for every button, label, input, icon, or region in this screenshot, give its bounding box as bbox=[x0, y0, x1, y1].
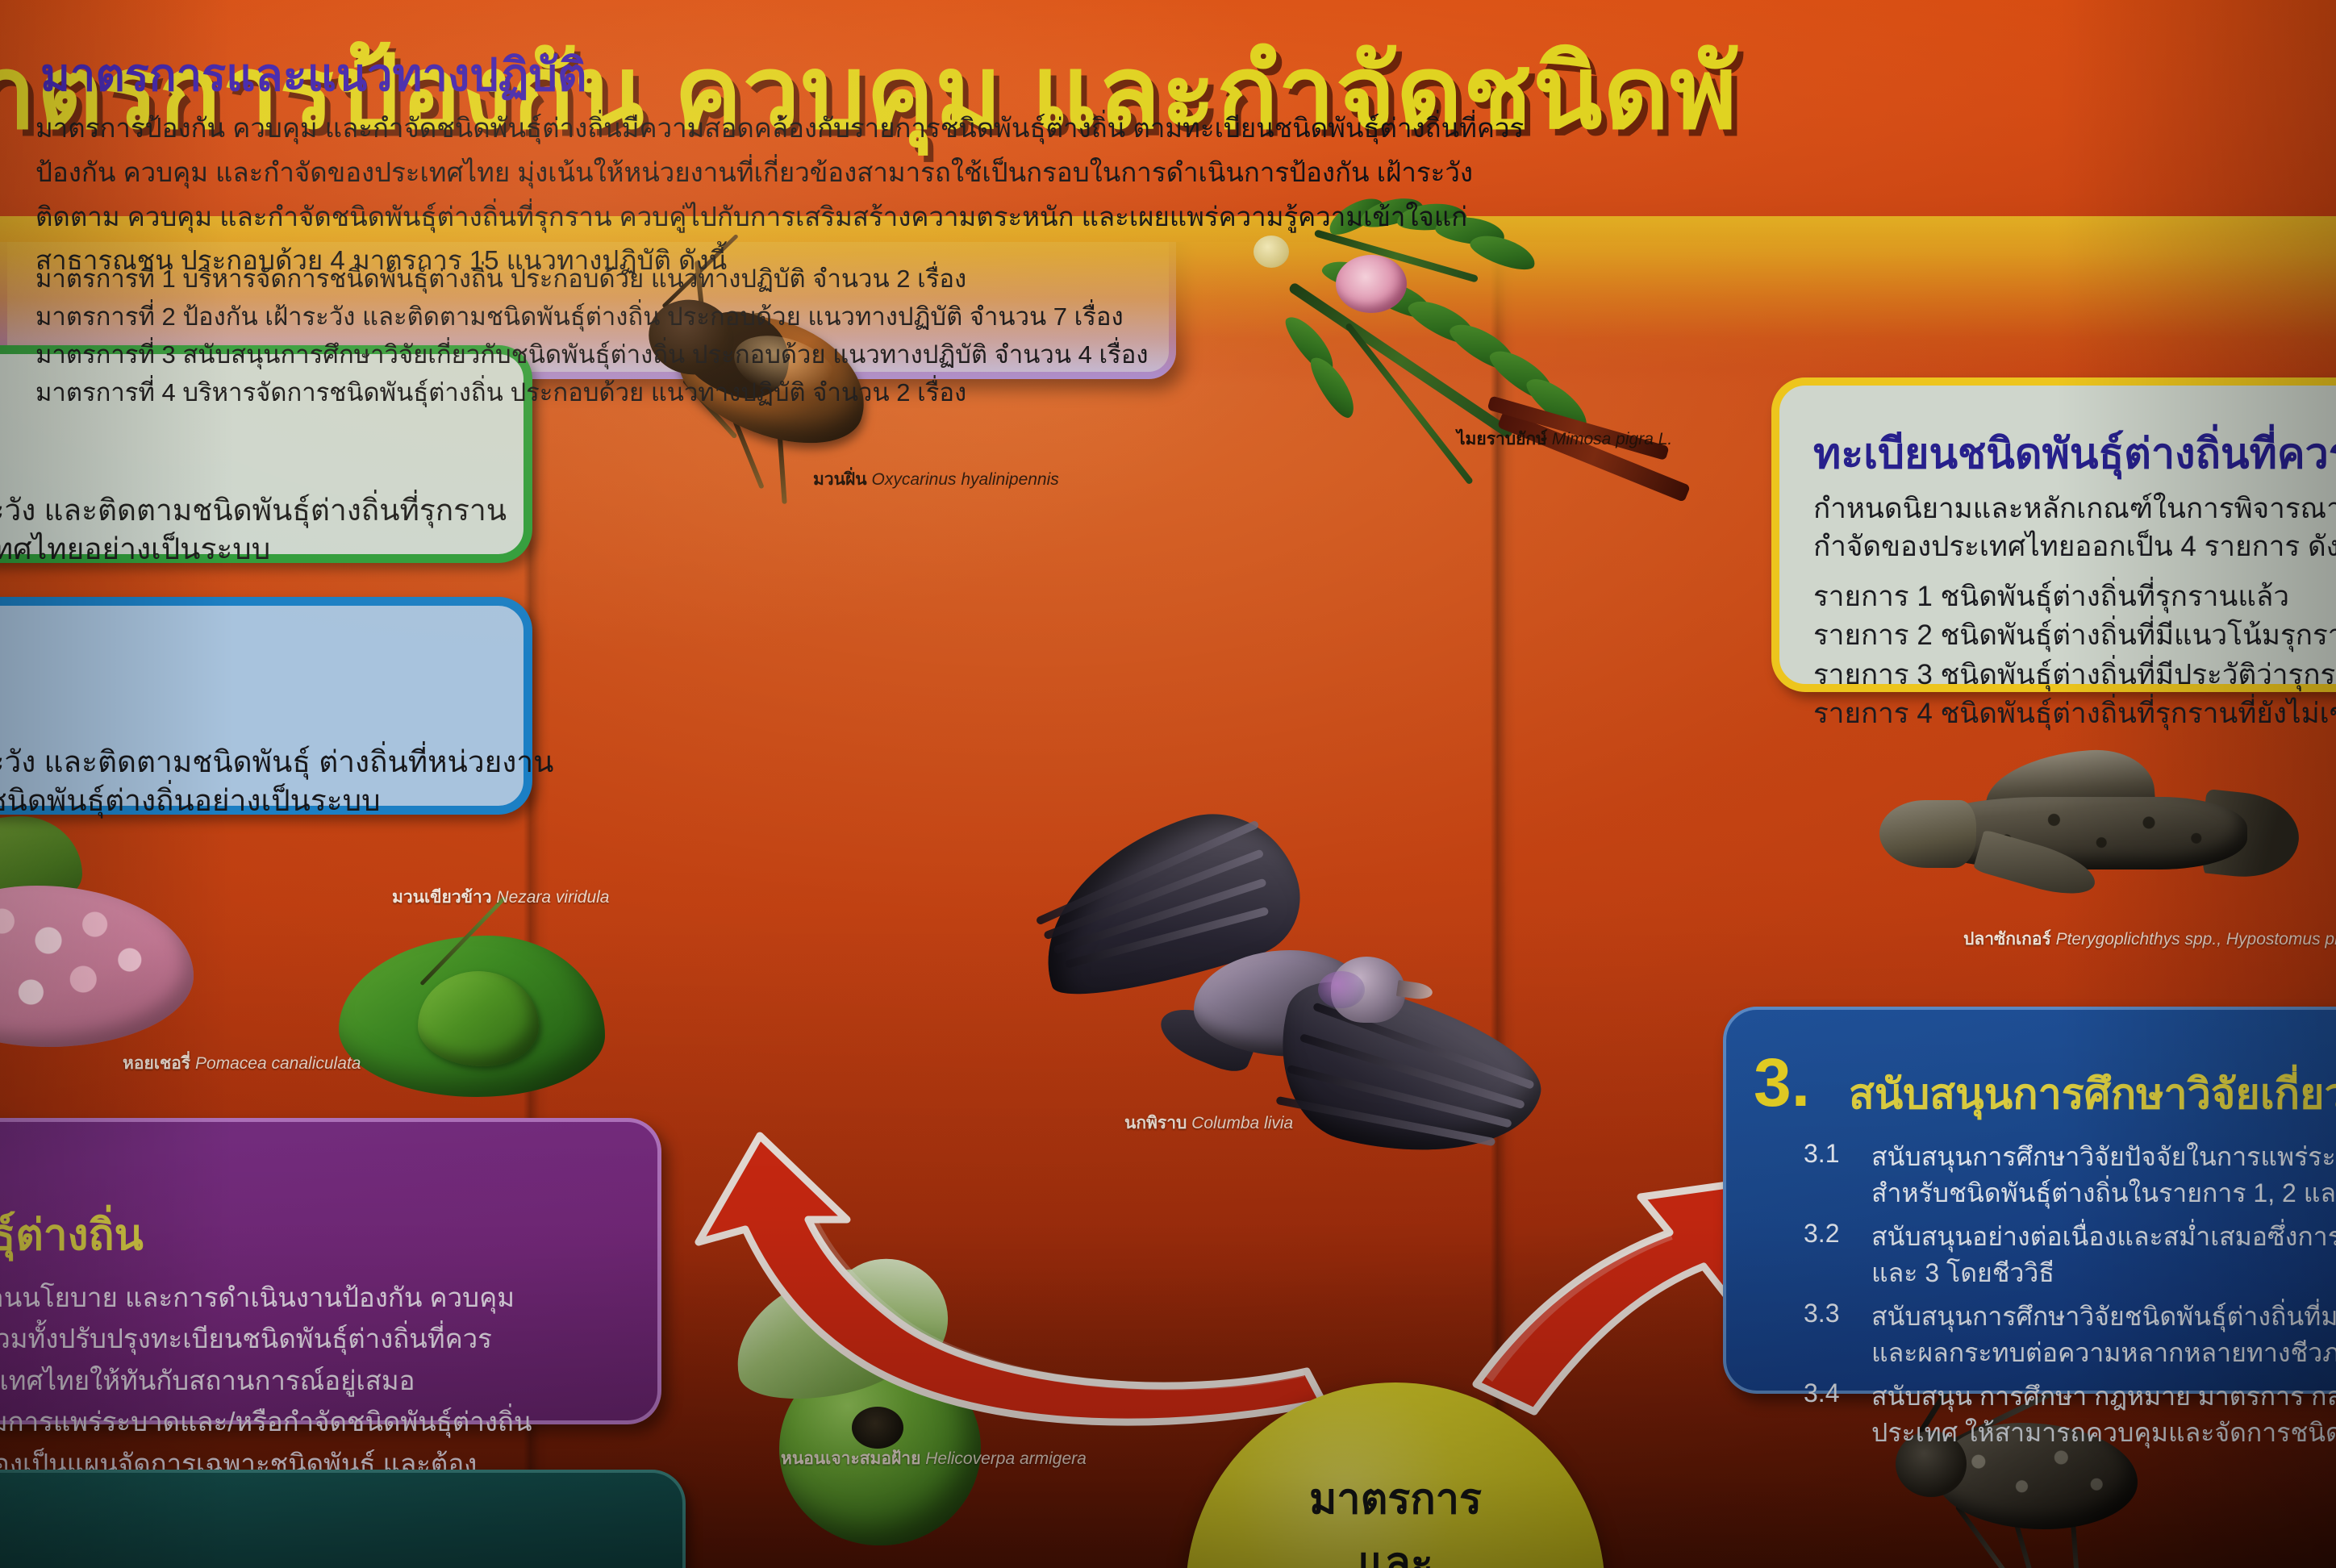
plant-leaflet bbox=[1304, 351, 1362, 423]
panel-research-blue-3[interactable]: 3. สนับสนุนการศึกษาวิจัยเกี่ยวกับชนิดพ 3… bbox=[1723, 1007, 2336, 1394]
plant-flower bbox=[1336, 255, 1407, 313]
specimen-nezara-bug bbox=[323, 887, 661, 1113]
panel-center-title: มาตรการและแนวทางปฏิบัติ bbox=[40, 39, 586, 111]
panel-yellow-list: รายการ 1 ชนิดพันธุ์ต่างถิ่นที่รุกรานแล้ว… bbox=[1813, 578, 2336, 733]
panel-monitoring-blue[interactable]: ควบคุม กำจัด เฝ้าระวัง และติดตามชนิดพันธ… bbox=[0, 597, 532, 815]
panel-yellow-intro: กำหนดนิยามและหลักเกณฑ์ในการพิจารณาจัดกลุ… bbox=[1813, 490, 2336, 566]
caption-pterygoplichthys: ปลาซักเกอร์ Pterygoplichthys spp., Hypos… bbox=[1963, 926, 2336, 953]
caption-pomacea: หอยเชอรี่ Pomacea canaliculata bbox=[123, 1050, 361, 1077]
panel-yellow-title: ทะเบียนชนิดพันธุ์ต่างถิ่นที่ควรป้องกั bbox=[1813, 419, 2336, 486]
specimen-pterygoplichthys-fish bbox=[1855, 750, 2307, 928]
specimen-mimosa-plant bbox=[1194, 184, 1710, 507]
plant-bud bbox=[1254, 236, 1289, 268]
panel-green-body: ควบคุม กำจัด เฝ้าระวัง และติดตามชนิดพันธ… bbox=[0, 491, 507, 569]
panel-center-paragraph: มาตรการป้องกัน ควบคุม และกำจัดชนิดพันธุ์… bbox=[35, 106, 1141, 283]
panel-blue3-title: สนับสนุนการศึกษาวิจัยเกี่ยวกับชนิดพ bbox=[1849, 1060, 2336, 1127]
caption-nezara: มวนเขียวข้าว Nezara viridula bbox=[392, 884, 609, 911]
caption-oxycarinus: มวนฝิ่น Oxycarinus hyalinipennis bbox=[813, 466, 1059, 493]
panel-registry-yellow[interactable]: ทะเบียนชนิดพันธุ์ต่างถิ่นที่ควรป้องกั กำ… bbox=[1771, 377, 2336, 692]
exhibit-board-background: มาตรการป้องกัน ควบคุม และกำจัดชนิดพั มวน… bbox=[0, 0, 2336, 1568]
panel-blue3-items: 3.1 สนับสนุนการศึกษาวิจัยปัจจัยในการแพร่… bbox=[1804, 1139, 2336, 1458]
hub-line-2: และ bbox=[1186, 1532, 1605, 1568]
caption-mimosa: ไมยราบยักษ์ Mimosa pigra L. bbox=[1457, 426, 1672, 452]
list-item: 3.4 สนับสนุน การศึกษา กฎหมาย มาตรการ กลไ… bbox=[1804, 1378, 2336, 1452]
panel-blue3-number: 3. bbox=[1754, 1049, 1810, 1116]
list-item: 3.1 สนับสนุนการศึกษาวิจัยปัจจัยในการแพร่… bbox=[1804, 1139, 2336, 1212]
fish-head bbox=[1879, 800, 1976, 868]
bird-neck-iridescence bbox=[1318, 971, 1365, 1008]
panel-center-measures-list: มาตรการที่ 1 บริหารจัดการชนิดพันธุ์ต่างถ… bbox=[35, 260, 1149, 411]
arrow-left-icon bbox=[694, 1129, 1339, 1420]
panel-management-purple[interactable]: รจัดการชนิดพันธุ์ต่างถิ่น นดหน่วยประสานง… bbox=[0, 1118, 661, 1424]
leg-icon bbox=[2071, 1522, 2081, 1568]
plant-stem bbox=[1345, 323, 1474, 486]
caption-helicoverpa: หนอนเจาะสมอฝ้าย Helicoverpa armigera bbox=[781, 1445, 1087, 1472]
panel-blue-left-body: ควบคุม กำจัด เฝ้าระวัง และติดตามชนิดพันธ… bbox=[0, 743, 553, 820]
panel-purple-title: รจัดการชนิดพันธุ์ต่างถิ่น bbox=[0, 1201, 144, 1269]
panel-bottom-teal[interactable] bbox=[0, 1470, 686, 1568]
list-item: 3.2 สนับสนุนอย่างต่อเนื่องและสม่ำเสมอซึ่… bbox=[1804, 1219, 2336, 1292]
center-hub-circle[interactable]: มาตรการ และ bbox=[1186, 1382, 1605, 1568]
snail-egg-cluster bbox=[0, 886, 194, 1047]
list-item: 3.3 สนับสนุนการศึกษาวิจัยชนิดพันธุ์ต่างถ… bbox=[1804, 1299, 2336, 1372]
specimen-pomacea-snail bbox=[0, 790, 258, 1057]
hub-line-1: มาตรการ bbox=[1186, 1468, 1605, 1532]
